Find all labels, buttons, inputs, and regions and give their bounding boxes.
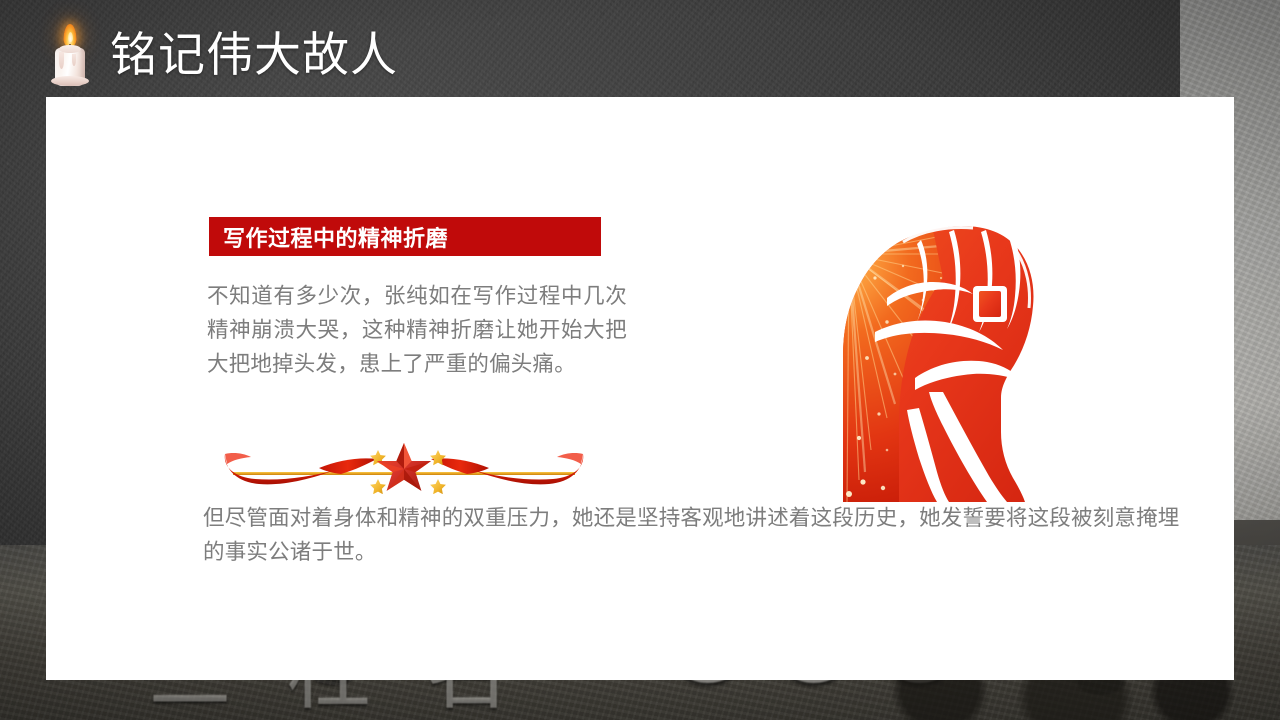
page-title: 铭记伟大故人 [110, 32, 398, 79]
section-heading-label: 写作过程中的精神折磨 [209, 221, 448, 253]
content-card: 写作过程中的精神折磨 不知道有多少次，张纯如在写作过程中几次精神崩溃大哭，这种精… [46, 97, 1234, 680]
candle-wax-drip-icon [59, 52, 64, 69]
slide-canvas: 三 杜 名 〇〇〇 铭记伟大故人 写作过程中的精神折磨 不知道有多少次，张纯如在… [0, 0, 1280, 720]
candle-wax-drip-icon [72, 54, 76, 66]
section-heading-banner: 写作过程中的精神折磨 [209, 217, 601, 256]
candle-wax-pool-icon [51, 76, 89, 86]
candle-icon [48, 24, 92, 86]
red-ribbon-star-divider [207, 438, 601, 494]
paragraph-top: 不知道有多少次，张纯如在写作过程中几次精神崩溃大哭，这种精神折磨让她开始大把大把… [207, 280, 627, 382]
paragraph-bottom: 但尽管面对着身体和精神的双重压力，她还是坚持客观地讲述着这段历史，她发誓要将这段… [203, 502, 1193, 570]
slide-header: 铭记伟大故人 [48, 18, 398, 92]
red-raised-fist-illustration [791, 182, 1061, 512]
